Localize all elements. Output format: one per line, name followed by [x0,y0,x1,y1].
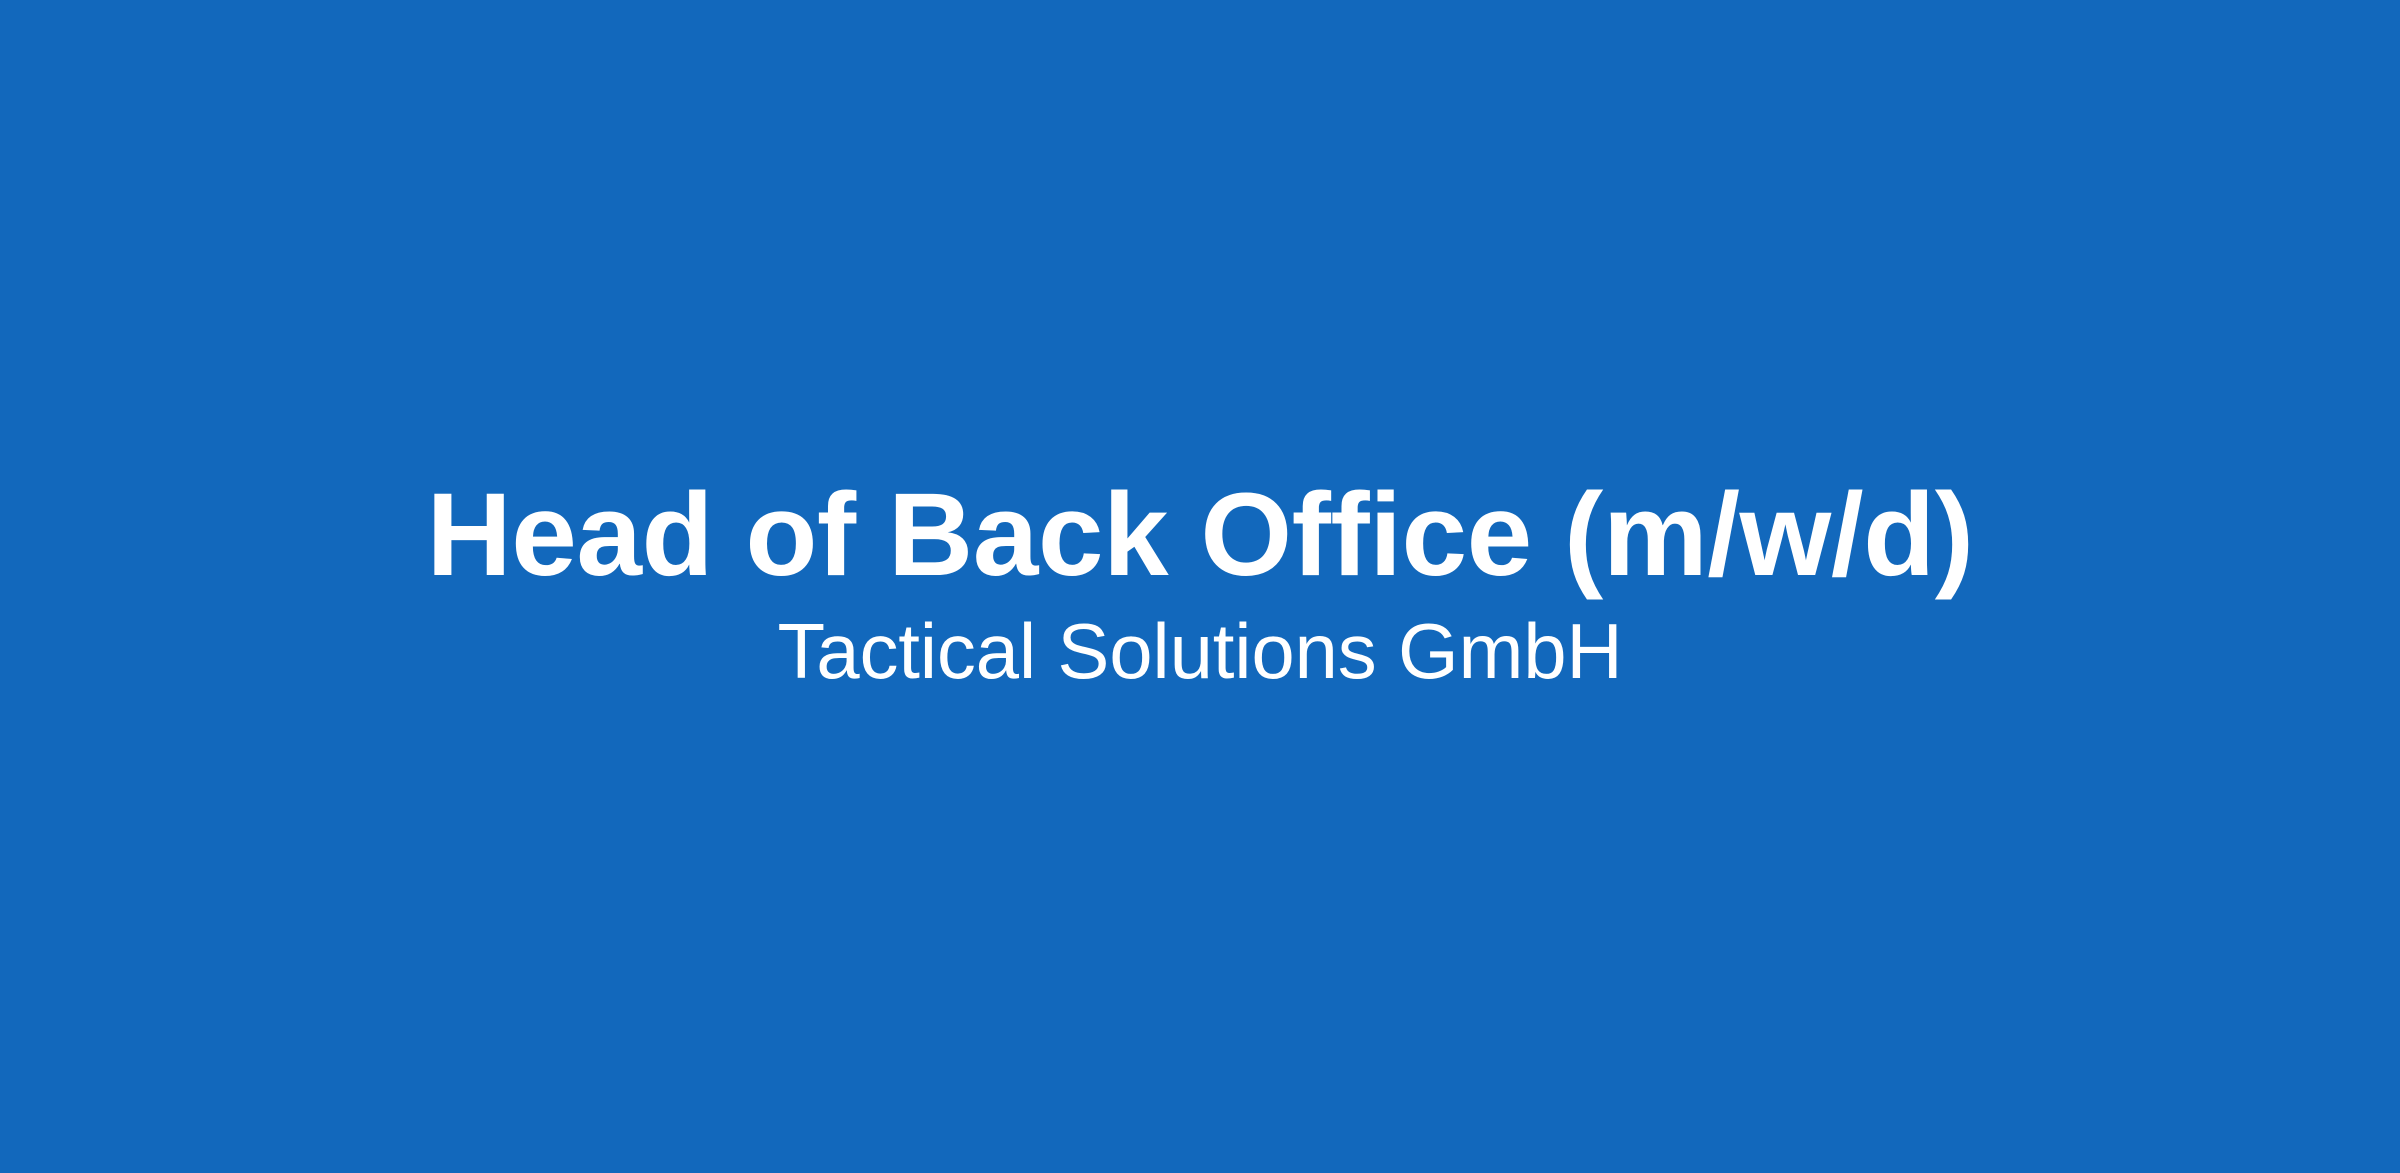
job-posting-banner: Head of Back Office (m/w/d) Tactical Sol… [0,0,2400,1173]
company-name: Tactical Solutions GmbH [777,612,1622,690]
job-title: Head of Back Office (m/w/d) [426,476,1973,594]
banner-text-block: Head of Back Office (m/w/d) Tactical Sol… [0,476,2400,690]
